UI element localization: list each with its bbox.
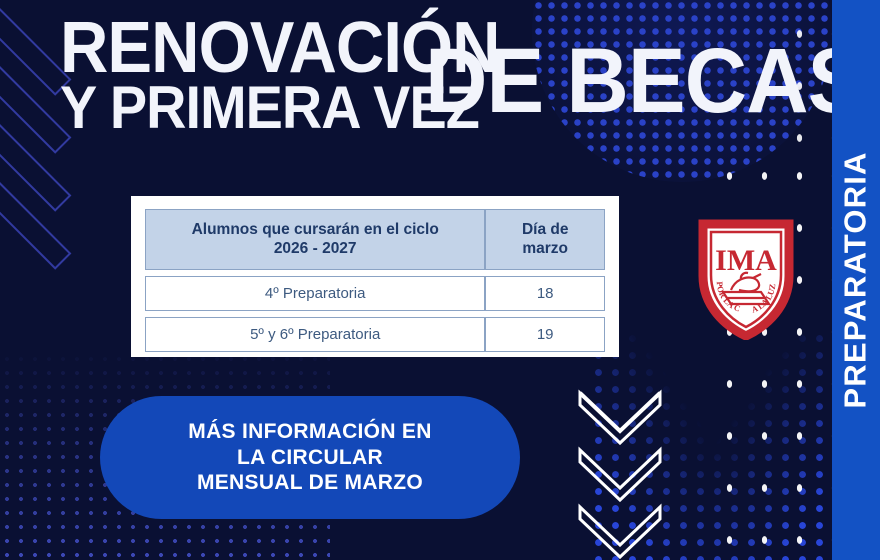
table-cell-day: 18 xyxy=(485,276,605,311)
table-header-students-line1: Alumnos que cursarán en el ciclo xyxy=(192,221,439,238)
poster-canvas: RENOVACIÓN Y PRIMERA VEZ DE BECAS Alumno… xyxy=(0,0,880,560)
table-header-day-line1: Día de xyxy=(522,221,569,238)
table-row: 4º Preparatoria 18 xyxy=(145,276,605,311)
table-header-students-line2: 2026 - 2027 xyxy=(274,240,357,257)
cta-line-1: MÁS INFORMACIÓN EN xyxy=(188,420,431,443)
table-cell-grade: 4º Preparatoria xyxy=(145,276,485,311)
table-cell-grade: 5º y 6º Preparatoria xyxy=(145,317,485,352)
white-dot-grid-right xyxy=(712,150,832,550)
cta-line-2: LA CIRCULAR xyxy=(237,446,383,469)
table-row: 5º y 6º Preparatoria 19 xyxy=(145,317,605,352)
schedule-table: Alumnos que cursarán en el ciclo 2026 - … xyxy=(145,209,605,352)
table-header-day: Día de marzo xyxy=(485,209,605,270)
schedule-table-card: Alumnos que cursarán en el ciclo 2026 - … xyxy=(131,196,619,357)
sidebar-preparatoria: PREPARATORIA xyxy=(832,0,880,560)
chevron-down-icon xyxy=(575,442,665,504)
table-cell-day: 19 xyxy=(485,317,605,352)
more-info-button-label: MÁS INFORMACIÓN EN LA CIRCULAR MENSUAL D… xyxy=(188,419,431,496)
table-header-students: Alumnos que cursarán en el ciclo 2026 - … xyxy=(145,209,485,270)
halftone-dots-bottom-right xyxy=(590,330,840,560)
school-crest-logo: IMA POR LA CRUZ A LA LUZ xyxy=(697,218,795,340)
chevron-down-icon xyxy=(575,499,665,560)
chevron-down-icon xyxy=(575,385,665,447)
headline-line-3: DE BECAS xyxy=(425,40,864,123)
more-info-button[interactable]: MÁS INFORMACIÓN EN LA CIRCULAR MENSUAL D… xyxy=(100,396,520,519)
table-header-row: Alumnos que cursarán en el ciclo 2026 - … xyxy=(145,209,605,270)
sidebar-label: PREPARATORIA xyxy=(838,151,874,408)
table-header-day-line2: marzo xyxy=(522,240,568,257)
cta-line-3: MENSUAL DE MARZO xyxy=(197,471,423,494)
chevron-arrows-decoration xyxy=(575,385,675,560)
